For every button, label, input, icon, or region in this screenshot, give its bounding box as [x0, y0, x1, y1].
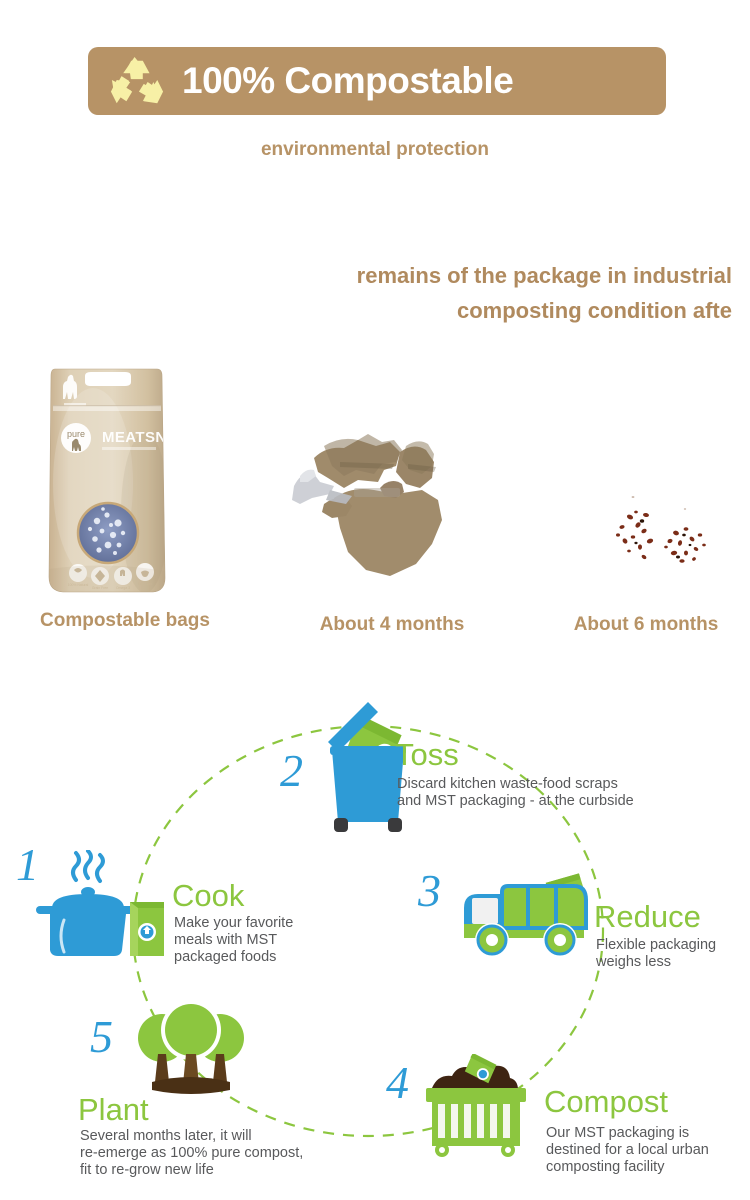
step-desc-compost: Our MST packaging is destined for a loca…	[546, 1125, 709, 1176]
page-title: 100% Compostable	[182, 60, 513, 102]
stage-caption-6-months: About 6 months	[546, 614, 746, 636]
step-title-reduce: Reduce	[594, 901, 701, 932]
step-desc-toss: Discard kitchen waste-food scraps and MS…	[397, 776, 634, 810]
lifecycle-diagram: 2	[0, 676, 750, 1197]
compost-specks-image	[600, 485, 740, 585]
paper-fragments-image	[280, 428, 485, 593]
cycle-step-plant: 5 Plant Several months later, it wi	[76, 996, 406, 1176]
step-number-3: 3	[418, 868, 441, 914]
step-number-5: 5	[90, 1014, 113, 1060]
step-desc-reduce: Flexible packaging weighs less	[596, 937, 716, 971]
compostable-bag-image: pure MEATSNAX	[45, 363, 171, 597]
cycle-step-compost: 4	[386, 1050, 750, 1200]
garbage-truck-icon	[456, 866, 596, 971]
step-number-2: 2	[280, 748, 303, 794]
infographic-page: 100% Compostable environmental protectio…	[0, 0, 750, 1197]
step-title-cook: Cook	[172, 880, 244, 911]
stage-caption-4-months: About 4 months	[292, 614, 492, 636]
step-desc-plant: Several months later, it will re-emerge …	[80, 1128, 303, 1179]
stage-caption-bags: Compostable bags	[0, 610, 250, 632]
step-title-plant: Plant	[78, 1094, 149, 1125]
lead-paragraph: remains of the package in industrial com…	[312, 258, 732, 328]
header-banner: 100% Compostable	[88, 47, 666, 115]
step-desc-cook: Make your favorite meals with MST packag…	[174, 915, 293, 966]
svg-text:pure: pure	[67, 429, 85, 439]
svg-text:MEATSNAX: MEATSNAX	[102, 429, 171, 446]
cycle-step-cook: 1	[14, 842, 344, 972]
step-title-compost: Compost	[544, 1086, 668, 1117]
cycle-step-reduce: 3	[418, 862, 750, 992]
step-title-toss: Toss	[395, 739, 459, 770]
trees-icon	[136, 996, 246, 1101]
cycle-step-toss: 2	[278, 690, 698, 850]
recycle-icon	[106, 53, 168, 109]
header-subtitle: environmental protection	[0, 139, 750, 161]
cooking-pot-icon	[32, 850, 172, 965]
compost-bin-icon	[422, 1054, 532, 1169]
